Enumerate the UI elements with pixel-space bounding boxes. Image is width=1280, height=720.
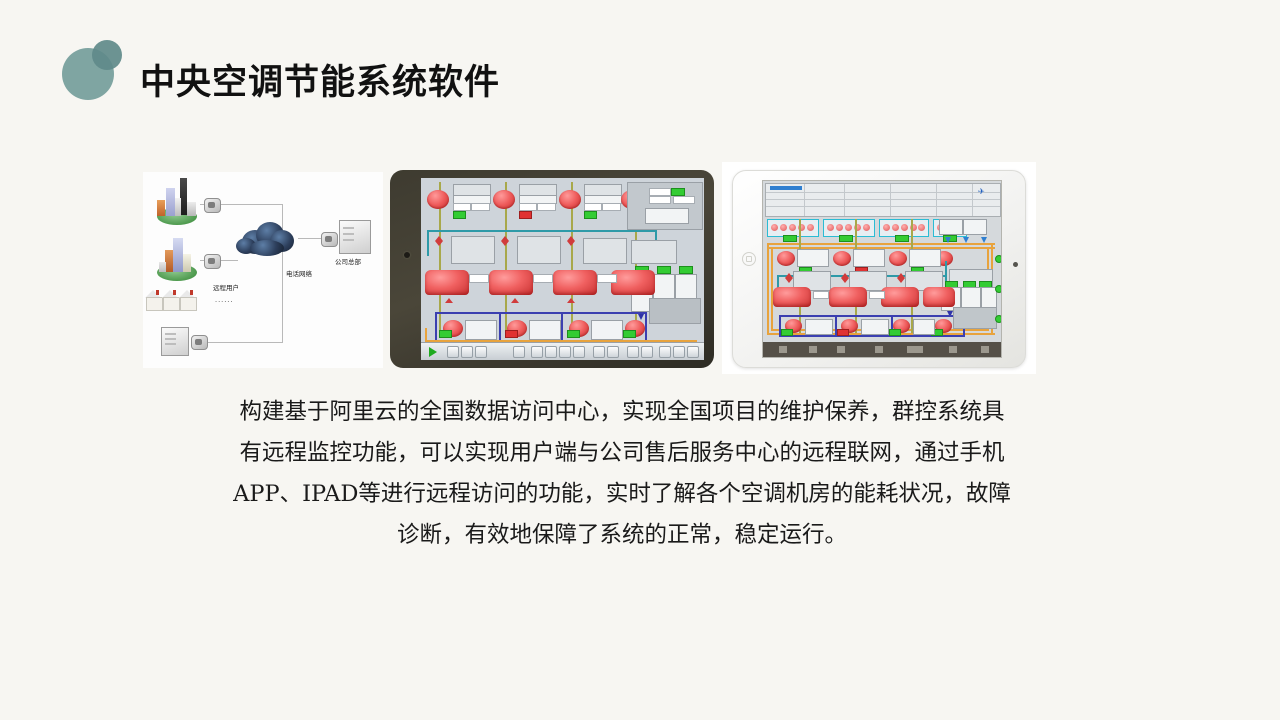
- link-server-cloud: [205, 342, 283, 343]
- chart-icon[interactable]: [659, 346, 671, 358]
- node-house-1: [145, 290, 162, 310]
- node-telephone-network-cloud: [236, 218, 298, 258]
- export-icon[interactable]: [475, 346, 487, 358]
- scada-toolbar[interactable]: [421, 342, 704, 360]
- next-icon[interactable]: [627, 346, 639, 358]
- figure-dark-tablet: [390, 170, 714, 368]
- tools-icon[interactable]: [875, 346, 883, 353]
- front-camera-icon: [1013, 262, 1018, 267]
- ipad-screen[interactable]: ✈: [762, 180, 1002, 358]
- caption-line-1: 构建基于阿里云的全国数据访问中心，实现全国项目的维护保养，群控系统具: [196, 392, 1048, 433]
- label-remote-users: 远程用户: [213, 282, 239, 292]
- node-router-3: [191, 335, 208, 350]
- trend-icon[interactable]: [447, 346, 459, 358]
- globe-icon[interactable]: [593, 346, 605, 358]
- header-logo-text: [770, 186, 802, 190]
- node-router-hq: [321, 232, 338, 247]
- help-icon[interactable]: [673, 346, 685, 358]
- report-icon[interactable]: [461, 346, 473, 358]
- close-icon[interactable]: [779, 346, 787, 353]
- recent-icon[interactable]: [809, 346, 817, 353]
- dark-tablet-screen[interactable]: [421, 178, 704, 360]
- print-icon[interactable]: [559, 346, 571, 358]
- zoom-icon[interactable]: [573, 346, 585, 358]
- alarm-icon[interactable]: [513, 346, 525, 358]
- scada-diagram-dark: [421, 178, 704, 360]
- node-house-3: [179, 290, 196, 310]
- refresh-icon[interactable]: [837, 346, 845, 353]
- front-camera-icon: [404, 252, 410, 258]
- up-icon[interactable]: [607, 346, 619, 358]
- caption-line-3: APP、IPAD等进行远程访问的功能，实时了解各个空调机房的能耗状况，故障: [196, 474, 1048, 515]
- play-icon[interactable]: [429, 347, 437, 357]
- settings-icon[interactable]: [949, 346, 957, 353]
- node-router-2: [204, 254, 221, 269]
- keyboard-icon[interactable]: [907, 346, 923, 353]
- page-title: 中央空调节能系统软件: [140, 59, 500, 107]
- scada-diagram-ipad: ✈: [763, 181, 1001, 357]
- settings-icon[interactable]: [531, 346, 543, 358]
- node-house-2: [162, 290, 179, 310]
- scada-header-table: ✈: [765, 183, 1001, 217]
- exit-icon[interactable]: [687, 346, 699, 358]
- label-headquarters: 公司总部: [335, 256, 361, 266]
- slide-caption: 构建基于阿里云的全国数据访问中心，实现全国项目的维护保养，群控系统具 有远程监控…: [196, 392, 1048, 556]
- home-button[interactable]: [742, 252, 756, 266]
- caption-line-4: 诊断，有效地保障了系统的正常，稳定运行。: [196, 515, 1048, 556]
- node-office-tower-1: [157, 178, 199, 216]
- node-hq-server: [339, 220, 371, 254]
- hide-icon[interactable]: [981, 346, 989, 353]
- refresh-icon[interactable]: [545, 346, 557, 358]
- node-router-1: [204, 198, 221, 213]
- figure-network-topology: 电话网络 远程用户 ······ 公司总部: [143, 172, 383, 368]
- prev-icon[interactable]: [641, 346, 653, 358]
- company-logo-icon: ✈: [978, 188, 985, 196]
- label-ellipsis: ······: [215, 298, 233, 306]
- network-diagram-canvas: 电话网络 远程用户 ······ 公司总部: [143, 172, 383, 368]
- node-office-tower-2: [159, 238, 199, 272]
- brand-logo-icon: [62, 40, 124, 102]
- label-telephone-network: 电话网络: [286, 268, 312, 278]
- ipad-nav-bar[interactable]: [763, 342, 1001, 357]
- figure-white-ipad: ✈: [722, 162, 1036, 374]
- caption-line-2: 有远程监控功能，可以实现用户端与公司售后服务中心的远程联网，通过手机: [196, 433, 1048, 474]
- logo-circle-small: [92, 40, 122, 70]
- node-site-server: [161, 327, 189, 356]
- slide-root: 中央空调节能系统软件: [0, 0, 1280, 720]
